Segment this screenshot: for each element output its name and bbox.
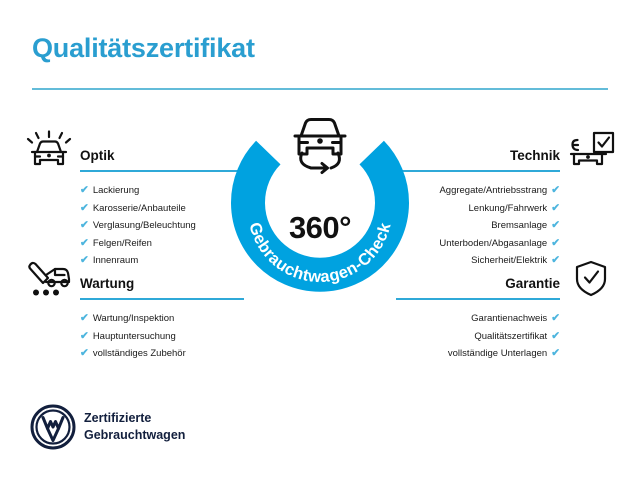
list-item-label: Unterboden/Abgasanlage: [439, 238, 547, 249]
car-headlights-icon: [24, 130, 74, 172]
list-item: ✔Hauptuntersuchung: [80, 328, 244, 346]
list-item-label: Verglasung/Beleuchtung: [93, 220, 196, 231]
list-item: ✔Felgen/Reifen: [80, 235, 244, 253]
list-item-label: Qualitätszertifikat: [474, 331, 547, 342]
checklist-garantie: Garantienachweis✔ Qualitätszertifikat✔ v…: [396, 310, 616, 363]
section-optik: Optik ✔Lackierung ✔Karosserie/Anbauteile…: [24, 130, 244, 270]
check-icon: ✔: [551, 184, 560, 196]
section-title-wartung: Wartung: [80, 276, 134, 291]
list-item: ✔Verglasung/Beleuchtung: [80, 217, 244, 235]
list-item: ✔Lackierung: [80, 182, 244, 200]
car-checkbox-icon: [566, 130, 616, 172]
certificate-page: Qualitätszertifikat: [0, 0, 640, 480]
section-title-garantie: Garantie: [505, 276, 560, 291]
list-item: Lenkung/Fahrwerk✔: [396, 200, 560, 218]
list-item-label: Garantienachweis: [471, 313, 547, 324]
section-header-optik: Optik: [24, 130, 244, 172]
section-wartung: Wartung ✔Wartung/Inspektion ✔Hauptunters…: [24, 258, 244, 363]
check-icon: ✔: [80, 184, 89, 196]
check-icon: ✔: [551, 347, 560, 359]
list-item-label: Felgen/Reifen: [93, 238, 152, 249]
car-service-wrench-icon: [24, 258, 74, 300]
check-icon: ✔: [80, 237, 89, 249]
list-item: Bremsanlage✔: [396, 217, 560, 235]
page-title: Qualitätszertifikat: [32, 33, 255, 64]
list-item-label: Lenkung/Fahrwerk: [469, 203, 548, 214]
list-item: vollständige Unterlagen✔: [396, 345, 560, 363]
vw-logo-icon: [30, 404, 76, 450]
footer-line-2: Gebrauchtwagen: [84, 427, 185, 444]
list-item-label: Karosserie/Anbauteile: [93, 203, 186, 214]
list-item-label: vollständiges Zubehör: [93, 348, 186, 359]
list-item-label: Hauptuntersuchung: [93, 331, 176, 342]
section-divider-wartung: [80, 298, 244, 300]
check-icon: ✔: [551, 330, 560, 342]
list-item: Unterboden/Abgasanlage✔: [396, 235, 560, 253]
list-item: ✔vollständiges Zubehör: [80, 345, 244, 363]
check-icon: ✔: [80, 347, 89, 359]
list-item: Garantienachweis✔: [396, 310, 560, 328]
check-icon: ✔: [551, 202, 560, 214]
shield-check-icon: [566, 258, 616, 300]
footer-line-1: Zertifizierte: [84, 410, 185, 427]
badge-360-check: Gebrauchtwagen-Check 360°: [222, 112, 418, 308]
section-header-garantie: Garantie: [396, 258, 616, 300]
check-icon: ✔: [80, 312, 89, 324]
list-item: ✔Wartung/Inspektion: [80, 310, 244, 328]
section-header-technik: Technik: [396, 130, 616, 172]
badge-degree-label: 360°: [222, 210, 418, 246]
list-item-label: Aggregate/Antriebsstrang: [439, 185, 547, 196]
list-item: Qualitätszertifikat✔: [396, 328, 560, 346]
check-icon: ✔: [551, 312, 560, 324]
check-icon: ✔: [80, 202, 89, 214]
header-divider: [32, 88, 608, 90]
section-title-technik: Technik: [510, 148, 560, 163]
section-divider-optik: [80, 170, 244, 172]
list-item: ✔Karosserie/Anbauteile: [80, 200, 244, 218]
check-icon: ✔: [80, 219, 89, 231]
list-item-label: Bremsanlage: [491, 220, 547, 231]
list-item: Aggregate/Antriebsstrang✔: [396, 182, 560, 200]
list-item-label: Lackierung: [93, 185, 139, 196]
section-divider-garantie: [396, 298, 560, 300]
checklist-technik: Aggregate/Antriebsstrang✔ Lenkung/Fahrwe…: [396, 182, 616, 270]
checklist-optik: ✔Lackierung ✔Karosserie/Anbauteile ✔Verg…: [24, 182, 244, 270]
section-title-optik: Optik: [80, 148, 115, 163]
checklist-wartung: ✔Wartung/Inspektion ✔Hauptuntersuchung ✔…: [24, 310, 244, 363]
section-header-wartung: Wartung: [24, 258, 244, 300]
list-item-label: Wartung/Inspektion: [93, 313, 175, 324]
footer-lockup-text: Zertifizierte Gebrauchtwagen: [84, 410, 185, 444]
check-icon: ✔: [551, 237, 560, 249]
car-rotate-360-icon: [284, 112, 356, 178]
check-icon: ✔: [80, 330, 89, 342]
section-garantie: Garantie Garantienachweis✔ Qualitätszert…: [396, 258, 616, 363]
section-divider-technik: [396, 170, 560, 172]
check-icon: ✔: [551, 219, 560, 231]
section-technik: Technik Aggregate/Antriebsstrang✔ Lenkun…: [396, 130, 616, 270]
list-item-label: vollständige Unterlagen: [448, 348, 547, 359]
